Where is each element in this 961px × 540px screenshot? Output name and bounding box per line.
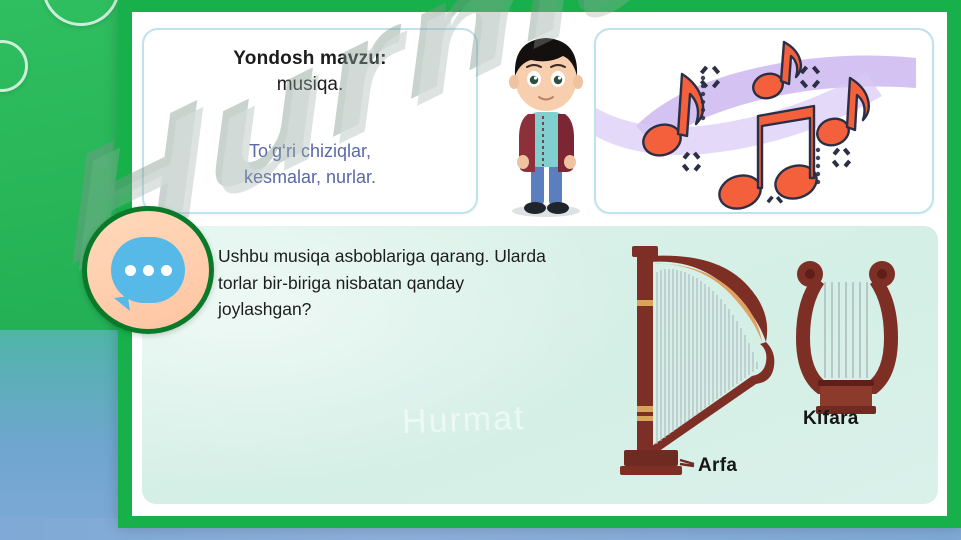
topic-subtitle: musiqa. (144, 74, 476, 96)
musical-notes-icon (596, 30, 932, 212)
top-row: Yondosh mavzu: musiqa. To‘g‘ri chiziqlar… (142, 24, 938, 214)
topic-title: Yondosh mavzu: (144, 48, 476, 70)
topic-highlight-line-2: kesmalar, nurlar. (144, 164, 476, 190)
chat-badge[interactable] (82, 206, 214, 334)
topic-card: Yondosh mavzu: musiqa. To‘g‘ri chiziqlar… (142, 28, 478, 214)
harp-icon (616, 238, 796, 488)
musical-notes-card (594, 28, 934, 214)
bubble-dot (161, 265, 172, 276)
topic-highlight-line-1: To‘g‘ri chiziqlar, (144, 138, 476, 164)
bubble-dot (143, 265, 154, 276)
topic-highlight: To‘g‘ri chiziqlar, kesmalar, nurlar. (144, 138, 476, 190)
harp-label: Arfa (698, 455, 737, 477)
background-blue-left (0, 330, 132, 540)
chat-bubble-icon (111, 237, 185, 303)
slide-stage: Yondosh mavzu: musiqa. To‘g‘ri chiziqlar… (0, 0, 961, 540)
bubble-dot (125, 265, 136, 276)
kithara-label: Kifara (803, 408, 859, 430)
watermark-ghost-text: Hurmat (401, 399, 526, 442)
question-text: Ushbu musiqa asboblariga qarang. Ularda … (218, 243, 548, 323)
boy-character-icon (487, 20, 605, 220)
